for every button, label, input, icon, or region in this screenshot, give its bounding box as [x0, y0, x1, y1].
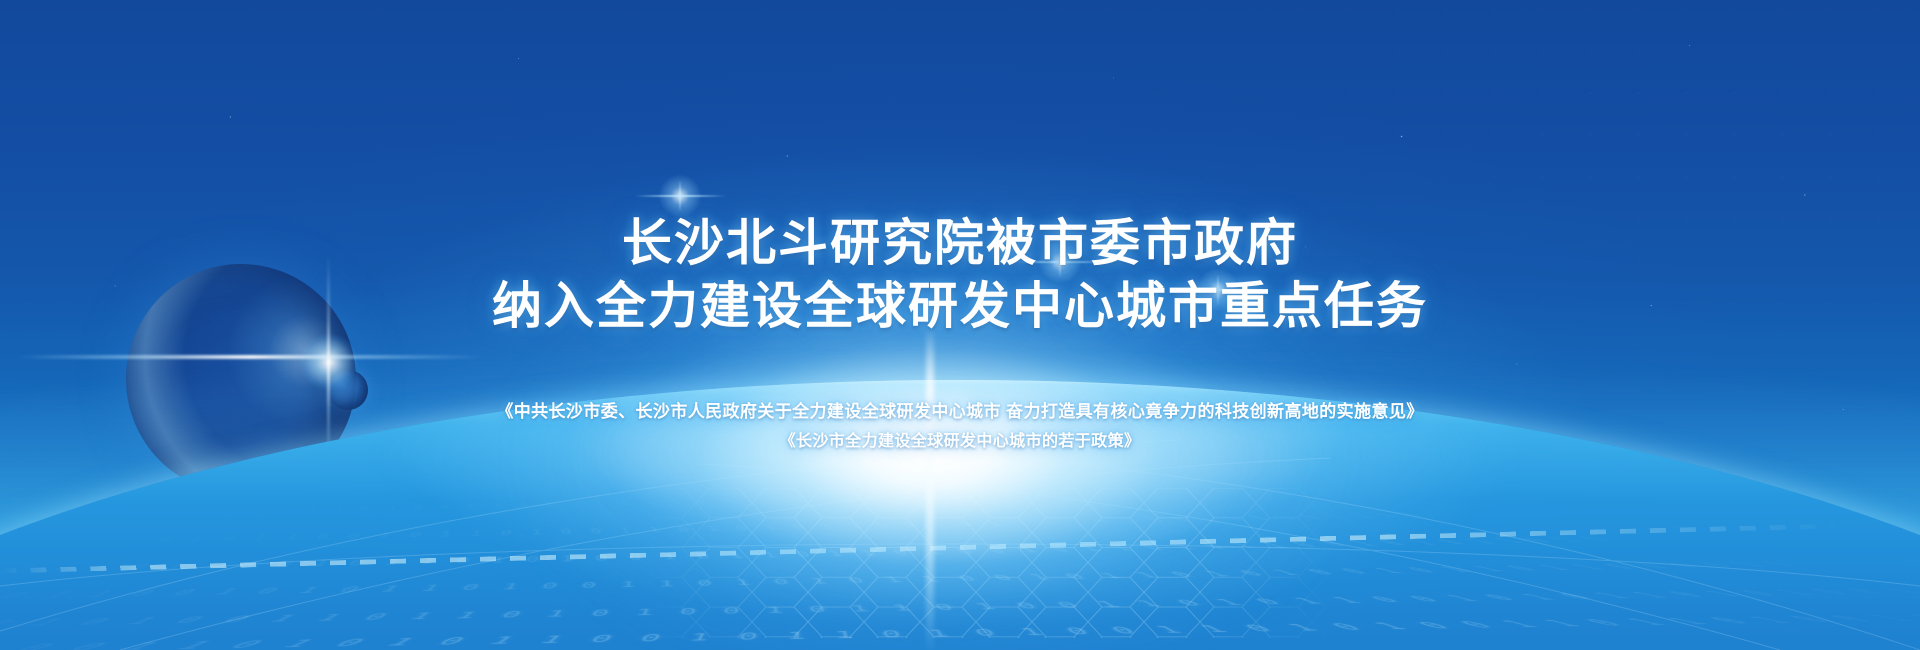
hero-banner: 1 0 1 0 0 1 1 0 1 0 1 0 1 1 0 1 0 0 1 0 … [0, 0, 1920, 650]
headline-line-2: 纳入全力建设全球研发中心城市重点任务 [492, 275, 1428, 338]
banner-content: 长沙北斗研究院被市委市政府 纳入全力建设全球研发中心城市重点任务 《中共长沙市委… [0, 0, 1920, 650]
subtitle-document-2: 《长沙市全力建设全球研发中心城市的若于政策》 [496, 427, 1423, 457]
subtitle-group: 《中共长沙市委、长沙市人民政府关于全力建设全球研发中心城市 奋力打造具有核心竟争… [496, 397, 1423, 457]
headline-line-1: 长沙北斗研究院被市委市政府 [492, 212, 1428, 275]
subtitle-document-1: 《中共长沙市委、长沙市人民政府关于全力建设全球研发中心城市 奋力打造具有核心竟争… [496, 397, 1423, 427]
page-title: 长沙北斗研究院被市委市政府 纳入全力建设全球研发中心城市重点任务 [492, 212, 1428, 338]
